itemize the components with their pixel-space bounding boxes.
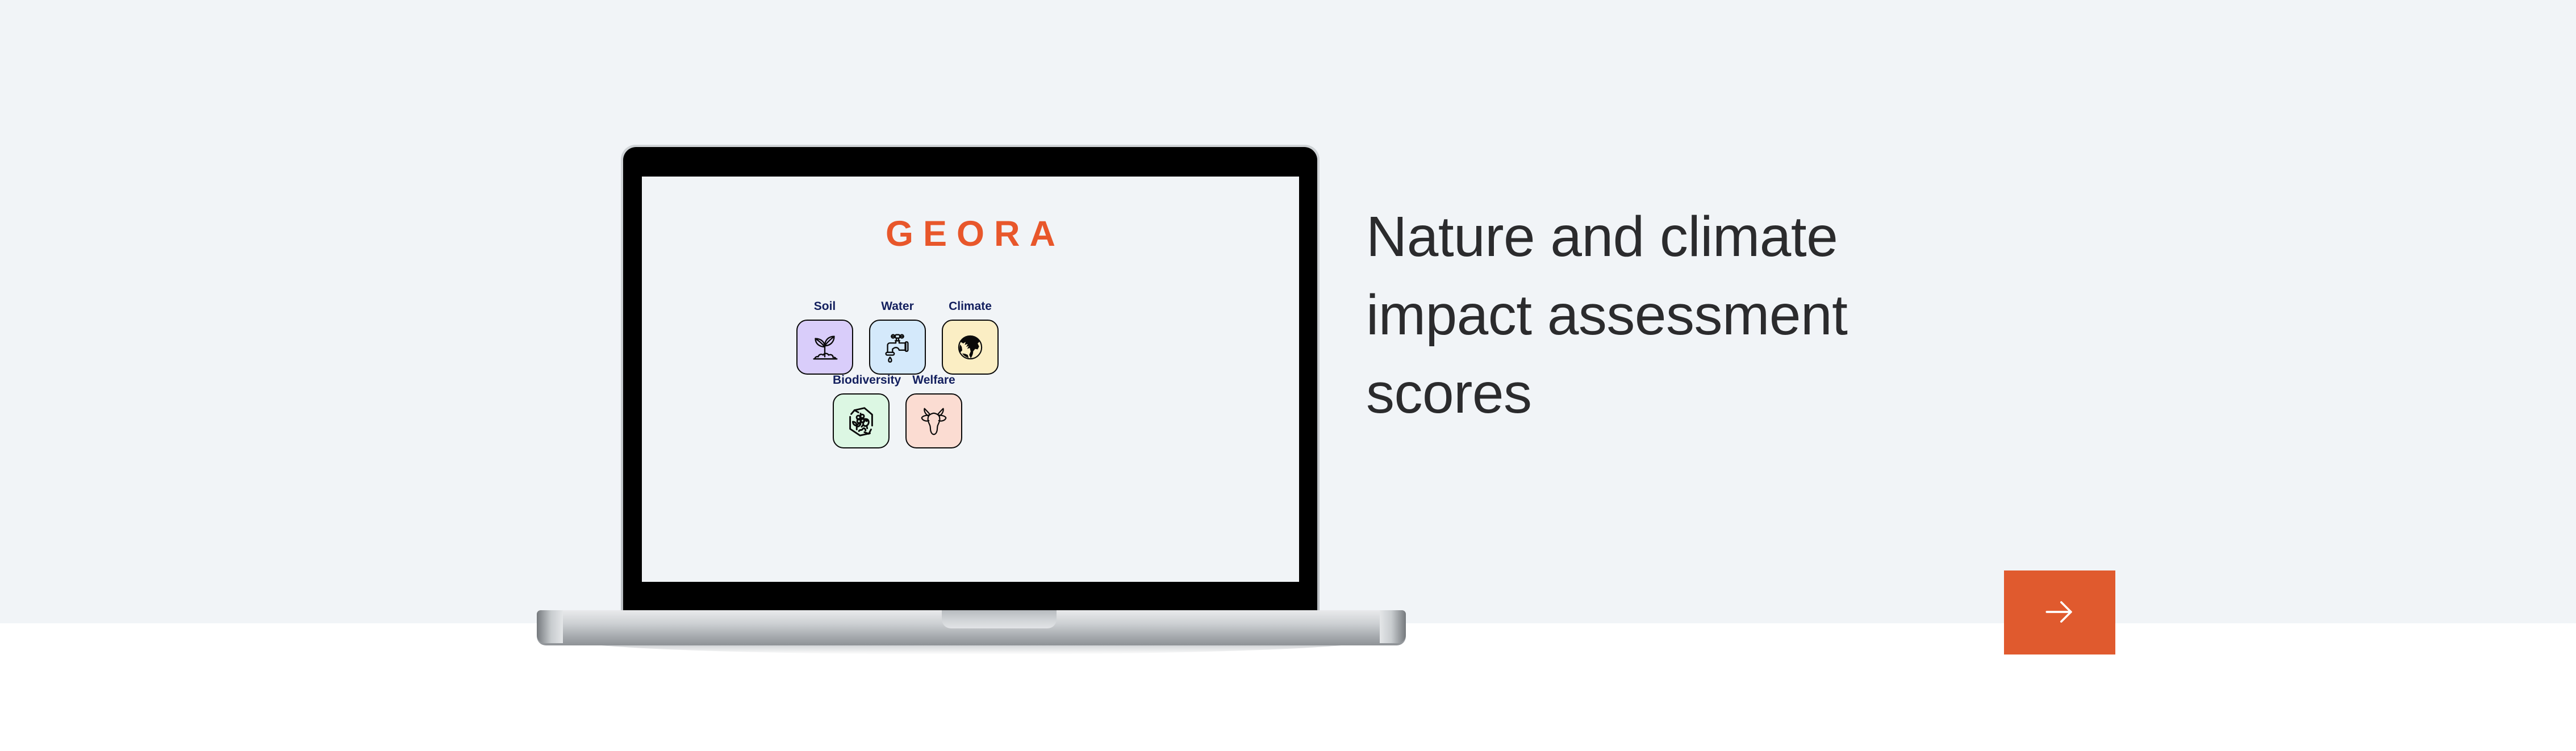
category-tile-welfare[interactable]: Welfare bbox=[905, 374, 962, 448]
arrow-right-icon bbox=[2040, 593, 2079, 633]
category-tile-water[interactable]: Water bbox=[869, 300, 926, 375]
headline-line-2: impact assessment bbox=[1366, 276, 2190, 354]
cow-head-icon bbox=[916, 404, 951, 439]
category-label-welfare: Welfare bbox=[905, 374, 962, 386]
faucet-icon bbox=[880, 330, 915, 365]
category-label-climate: Climate bbox=[942, 300, 999, 312]
laptop-hinge-shadow bbox=[623, 582, 1317, 613]
biodiversity-icon bbox=[844, 404, 879, 439]
globe-icon bbox=[954, 332, 986, 363]
category-tile-soil[interactable]: Soil bbox=[796, 300, 853, 375]
category-card-welfare[interactable] bbox=[905, 393, 962, 448]
category-tile-biodiversity[interactable]: Biodiversity bbox=[833, 374, 890, 448]
category-card-water[interactable] bbox=[869, 320, 926, 375]
impact-category-grid: Soil bbox=[642, 177, 1299, 586]
laptop-base-notch bbox=[942, 610, 1057, 628]
laptop-base-right-edge bbox=[1380, 610, 1406, 643]
laptop-screen: GEORA Soil bbox=[642, 177, 1299, 586]
category-card-soil[interactable] bbox=[796, 320, 853, 375]
category-label-soil: Soil bbox=[796, 300, 853, 312]
category-card-climate[interactable] bbox=[942, 320, 999, 375]
category-label-biodiversity: Biodiversity bbox=[833, 374, 890, 386]
laptop-base-left-edge bbox=[537, 610, 563, 643]
page-title: Nature and climate impact assessment sco… bbox=[1366, 198, 2190, 433]
next-arrow-button[interactable] bbox=[2004, 570, 2115, 654]
category-card-biodiversity[interactable] bbox=[833, 393, 890, 448]
headline-line-1: Nature and climate bbox=[1366, 198, 2190, 276]
category-label-water: Water bbox=[869, 300, 926, 312]
headline-line-3: scores bbox=[1366, 354, 2190, 433]
category-tile-climate[interactable]: Climate bbox=[942, 300, 999, 375]
seedling-icon bbox=[807, 330, 842, 365]
laptop-mockup: GEORA Soil bbox=[537, 145, 1406, 644]
